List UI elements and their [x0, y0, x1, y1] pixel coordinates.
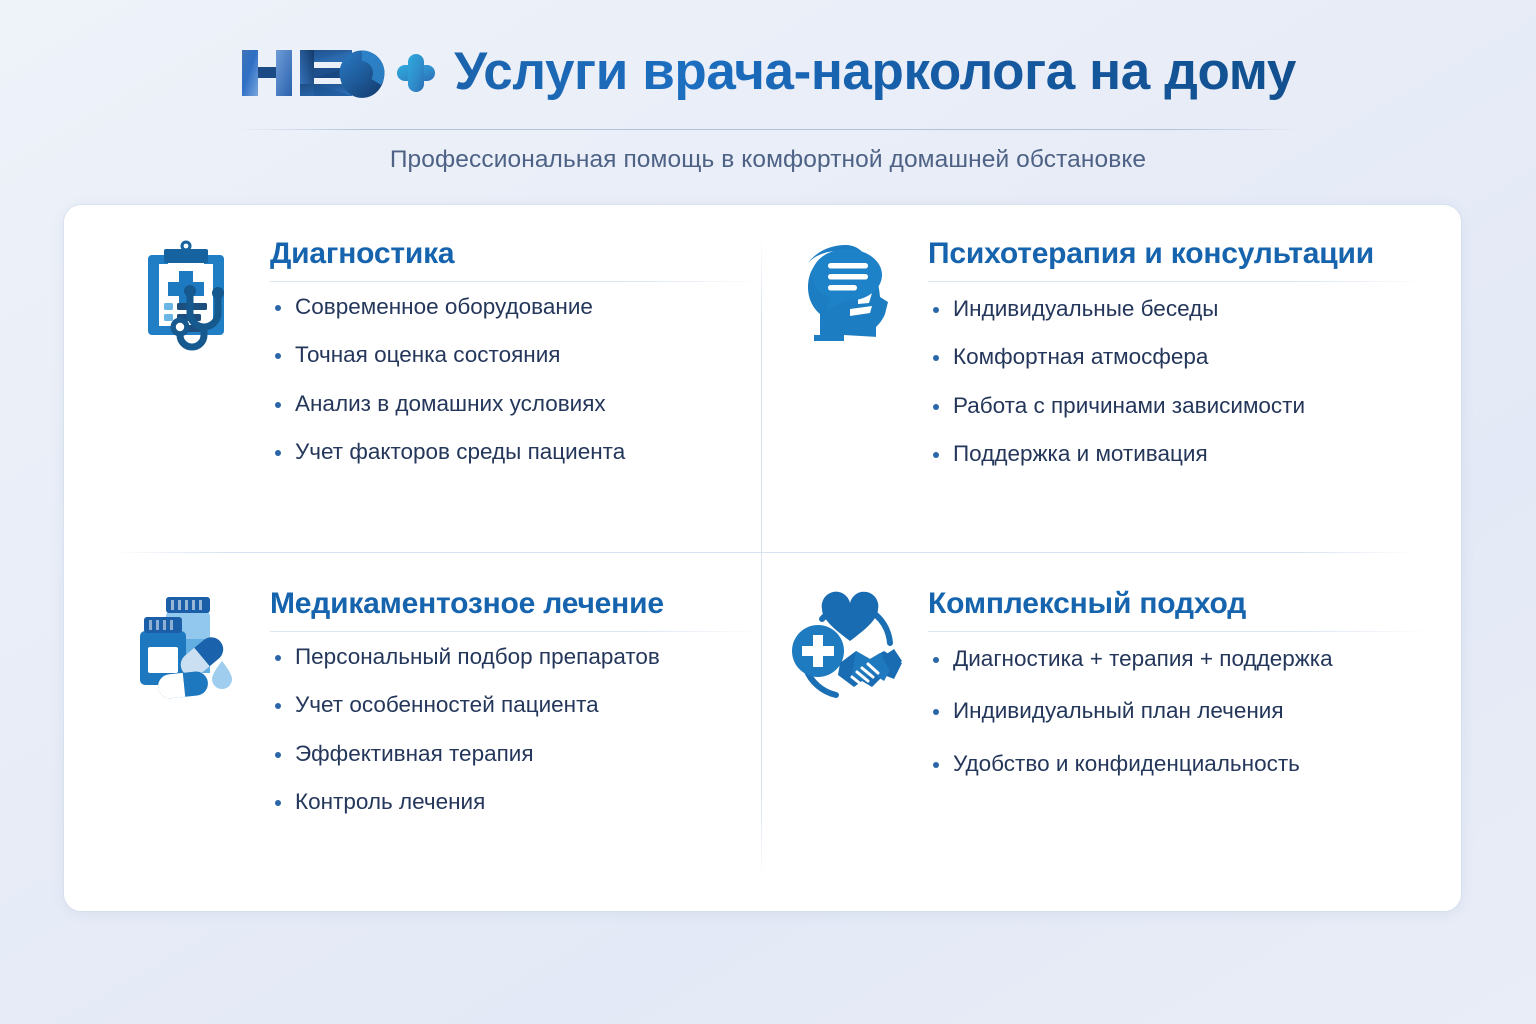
card-title: Психотерапия и консультации — [928, 237, 1432, 271]
card-title: Медикаментозное лечение — [270, 587, 764, 621]
head-speech-bubble-icon — [782, 233, 906, 357]
list-item: Точная оценка состояния — [270, 344, 764, 367]
list-item: Современное оборудование — [270, 296, 764, 319]
list-item: Персональный подбор препаратов — [270, 646, 764, 669]
service-card-diagnostics: Диагностика Современное оборудование Точ… — [124, 225, 764, 464]
services-panel: Диагностика Современное оборудование Точ… — [64, 205, 1461, 911]
card-bullet-list: Диагностика + терапия + поддержка Индиви… — [928, 632, 1432, 776]
service-card-medication: Медикаментозное лечение Персональный под… — [124, 575, 764, 814]
header-divider — [236, 129, 1302, 130]
service-card-complex-approach: Комплексный подход Диагностика + терапия… — [782, 575, 1432, 805]
card-bullet-list: Современное оборудование Точная оценка с… — [270, 282, 764, 464]
list-item: Диагностика + терапия + поддержка — [928, 648, 1432, 671]
page-title: Услуги врача-нарколога на дому — [454, 45, 1296, 102]
list-item: Анализ в домашних условиях — [270, 393, 764, 416]
list-item: Учет факторов среды пациента — [270, 441, 764, 464]
card-title: Диагностика — [270, 237, 764, 271]
panel-horizontal-divider — [109, 552, 1416, 553]
list-item: Контроль лечения — [270, 791, 764, 814]
list-item: Индивидуальные беседы — [928, 298, 1432, 321]
card-bullet-list: Индивидуальные беседы Комфортная атмосфе… — [928, 282, 1432, 466]
pill-bottles-capsule-icon — [124, 583, 248, 707]
list-item: Комфортная атмосфера — [928, 346, 1432, 369]
card-title: Комплексный подход — [928, 587, 1432, 621]
infographic-page: Услуги врача-нарколога на дому Профессио… — [0, 0, 1536, 1024]
service-card-psychotherapy: Психотерапия и консультации Индивидуальн… — [782, 225, 1432, 466]
neo-plus-logo — [240, 42, 436, 104]
card-bullet-list: Персональный подбор препаратов Учет особ… — [270, 632, 764, 814]
header-title-row: Услуги врача-нарколога на дому — [0, 34, 1536, 112]
list-item: Эффективная терапия — [270, 743, 764, 766]
clipboard-stethoscope-icon — [124, 233, 248, 357]
header: Услуги врача-нарколога на дому Профессио… — [0, 34, 1536, 184]
list-item: Поддержка и мотивация — [928, 443, 1432, 466]
list-item: Работа с причинами зависимости — [928, 395, 1432, 418]
heart-handshake-cross-icon — [782, 583, 906, 707]
list-item: Удобство и конфиденциальность — [928, 753, 1432, 776]
page-subtitle: Профессиональная помощь в комфортной дом… — [0, 146, 1536, 174]
list-item: Учет особенностей пациента — [270, 694, 764, 717]
list-item: Индивидуальный план лечения — [928, 700, 1432, 723]
